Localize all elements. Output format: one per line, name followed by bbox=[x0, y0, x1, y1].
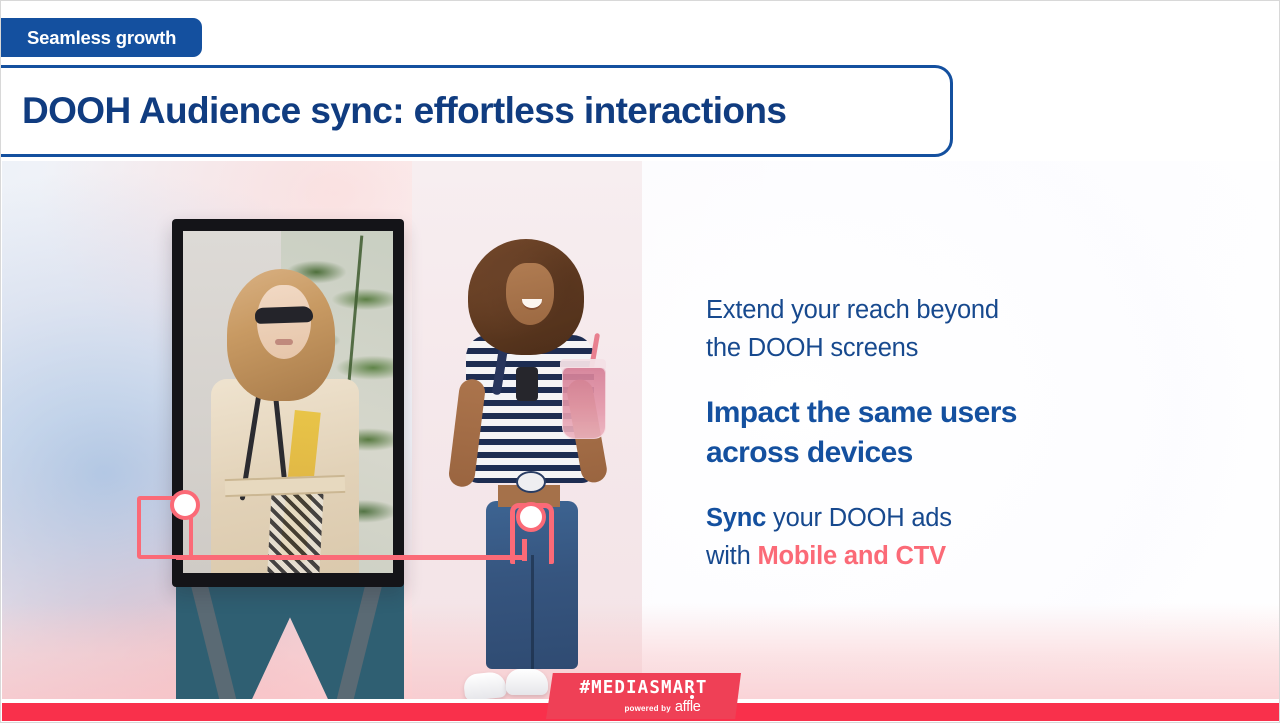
annotation-phone-stem bbox=[522, 539, 527, 561]
mediasmart-logo-badge: #MEDIASMART powered by affle bbox=[546, 673, 741, 719]
billboard-model-lips bbox=[275, 339, 293, 345]
dooh-billboard bbox=[172, 219, 404, 699]
billboard-frame bbox=[172, 219, 404, 587]
person-smartphone bbox=[516, 367, 538, 401]
slide-title-box: DOOH Audience sync: effortless interacti… bbox=[0, 65, 953, 157]
drink-cup bbox=[562, 367, 606, 439]
person-face bbox=[506, 263, 554, 325]
affle-dot-icon bbox=[690, 695, 694, 699]
person-shoe-left bbox=[463, 671, 507, 699]
eyebrow-badge: Seamless growth bbox=[0, 18, 202, 57]
affle-text: affle bbox=[675, 699, 701, 715]
person-top-knot bbox=[516, 471, 546, 493]
intro-line-2: the DOOH screens bbox=[706, 329, 1126, 367]
billboard-screen bbox=[183, 231, 393, 573]
copy-column: Extend your reach beyond the DOOH screen… bbox=[706, 291, 1126, 575]
mediasmart-wordmark: #MEDIASMART bbox=[580, 679, 708, 698]
sync-bold-word: Sync bbox=[706, 504, 766, 532]
logo-subline: powered by affle bbox=[624, 699, 700, 715]
sync-line-1: Sync your DOOH ads bbox=[706, 499, 1126, 537]
headline-line-1: Impact the same users bbox=[706, 393, 1126, 433]
sync-pink-text: Mobile and CTV bbox=[757, 542, 945, 570]
headline-line-2: across devices bbox=[706, 433, 1126, 473]
sync-rest-text: your DOOH ads bbox=[766, 504, 952, 532]
person-with-phone bbox=[442, 239, 622, 699]
powered-by-label: powered by bbox=[624, 704, 670, 713]
intro-line-1: Extend your reach beyond bbox=[706, 291, 1126, 329]
billboard-model-sunglasses-icon bbox=[255, 306, 314, 324]
annotation-dot-phone bbox=[516, 502, 546, 532]
page-title: DOOH Audience sync: effortless interacti… bbox=[22, 90, 786, 132]
slide-canvas: Seamless growth DOOH Audience sync: effo… bbox=[0, 0, 1280, 723]
sync-line-2: with Mobile and CTV bbox=[706, 537, 1126, 575]
affle-brand-label: affle bbox=[675, 699, 701, 715]
sync-with-text: with bbox=[706, 542, 757, 570]
annotation-dot-billboard bbox=[170, 490, 200, 520]
annotation-connector-line bbox=[176, 555, 524, 560]
person-shoe-right bbox=[506, 669, 548, 695]
eyebrow-label: Seamless growth bbox=[27, 27, 176, 49]
